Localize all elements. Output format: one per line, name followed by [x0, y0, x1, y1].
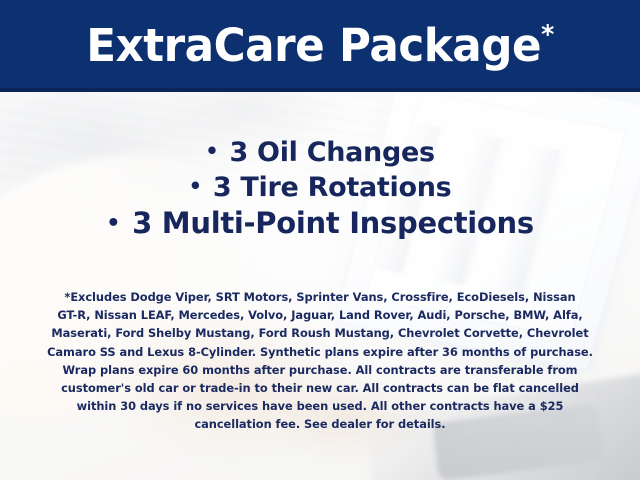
list-item: • 3 Tire Rotations [0, 173, 640, 202]
list-item: • 3 Multi-Point Inspections [0, 208, 640, 239]
page-title: ExtraCare Package* [86, 22, 554, 70]
disclaimer-line: Camaro SS and Lexus 8-Cylinder. Syntheti… [26, 343, 614, 361]
benefits-list: • 3 Oil Changes • 3 Tire Rotations • 3 M… [0, 138, 640, 240]
list-item: • 3 Oil Changes [0, 138, 640, 167]
bullet-icon: • [106, 210, 120, 236]
title-asterisk-marker: * [541, 20, 554, 50]
header-banner: ExtraCare Package* [0, 0, 640, 92]
header-banner-rule [0, 88, 640, 92]
bullet-icon: • [205, 138, 218, 163]
benefit-label: 3 Tire Rotations [213, 172, 452, 203]
extracare-package-advertisement: ExtraCare Package* • 3 Oil Changes • 3 T… [0, 0, 640, 480]
benefit-label: 3 Oil Changes [229, 137, 434, 168]
disclaimer-line: customer's old car or trade-in to their … [26, 379, 614, 397]
benefit-label: 3 Multi-Point Inspections [132, 206, 534, 240]
disclaimer-text: *Excludes Dodge Viper, SRT Motors, Sprin… [26, 288, 614, 434]
disclaimer-line: Maserati, Ford Shelby Mustang, Ford Rous… [26, 324, 614, 342]
disclaimer-line: within 30 days if no services have been … [26, 397, 614, 415]
bullet-icon: • [189, 173, 202, 198]
disclaimer-line: GT-R, Nissan LEAF, Mercedes, Volvo, Jagu… [26, 306, 614, 324]
disclaimer-line: cancellation fee. See dealer for details… [26, 415, 614, 433]
disclaimer-line: *Excludes Dodge Viper, SRT Motors, Sprin… [26, 288, 614, 306]
page-title-text: ExtraCare Package [86, 19, 541, 72]
disclaimer-line: Wrap plans expire 60 months after purcha… [26, 361, 614, 379]
